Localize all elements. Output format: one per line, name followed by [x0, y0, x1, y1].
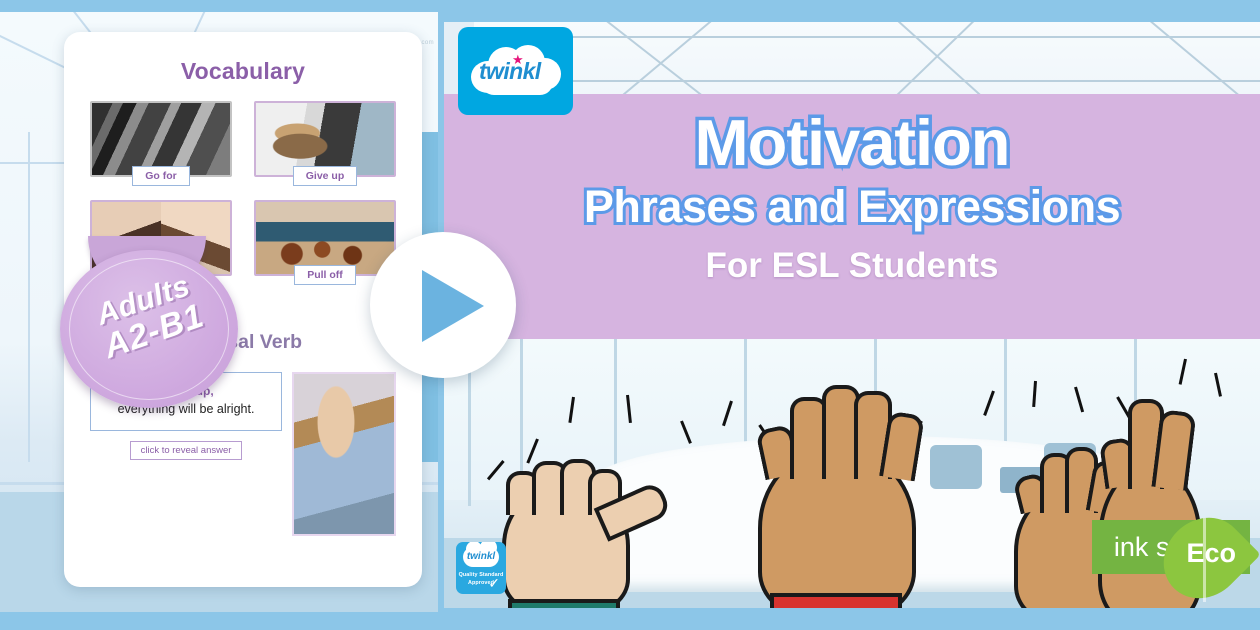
- badge-circle: Adults A2-B1: [60, 250, 238, 408]
- person-looking-away-photo: [292, 372, 396, 536]
- slide-subtitle: Phrases and Expressions: [444, 183, 1260, 230]
- slide-audience: For ESL Students: [444, 246, 1260, 286]
- level-badge-line2: A2-B1: [64, 286, 244, 377]
- clapping-hand: [502, 457, 640, 607]
- title-banner: Motivation Phrases and Expressions For E…: [444, 94, 1260, 339]
- reveal-answer-button[interactable]: click to reveal answer: [130, 441, 243, 460]
- vocabulary-item-label: Give up: [293, 166, 358, 186]
- quality-badge-wordmark: twinkl: [456, 551, 506, 562]
- vocabulary-item-label: Pull off: [294, 265, 356, 285]
- play-triangle-icon: [422, 270, 484, 342]
- wrist-cuff: [508, 599, 620, 608]
- quality-standard-badge: twinkl Quality Standard Approved ✓: [456, 542, 506, 594]
- office-chair: [930, 445, 982, 489]
- vocabulary-item-label: Go for: [132, 166, 190, 186]
- eco-badge: ink saving Eco: [1092, 520, 1250, 574]
- title-block: Motivation Phrases and Expressions For E…: [444, 94, 1260, 286]
- main-slide[interactable]: Motivation Phrases and Expressions For E…: [444, 22, 1260, 608]
- star-icon: ★: [512, 53, 524, 66]
- check-icon: ✓: [488, 575, 500, 592]
- twinkl-cloud-logo: twinkl ★: [471, 45, 561, 95]
- vocabulary-heading: Vocabulary: [78, 58, 408, 85]
- play-button[interactable]: [370, 232, 516, 378]
- level-badge: Adults A2-B1: [52, 238, 248, 410]
- slide-title: Motivation: [444, 110, 1260, 175]
- vocabulary-item[interactable]: Give up: [254, 101, 396, 186]
- clapping-hand: [744, 369, 934, 608]
- twinkl-wordmark: twinkl: [479, 58, 569, 85]
- vocabulary-item[interactable]: Pull off: [254, 200, 396, 285]
- twinkl-logo[interactable]: twinkl ★: [458, 27, 573, 115]
- vocabulary-item[interactable]: Go for: [90, 101, 232, 186]
- level-badge-line1: Adults: [54, 257, 232, 344]
- eco-badge-word: Eco: [1186, 538, 1236, 569]
- screenshot-root: twinkl.com Vocabulary Go for Give up: [0, 0, 1260, 630]
- sleeve: [770, 593, 902, 608]
